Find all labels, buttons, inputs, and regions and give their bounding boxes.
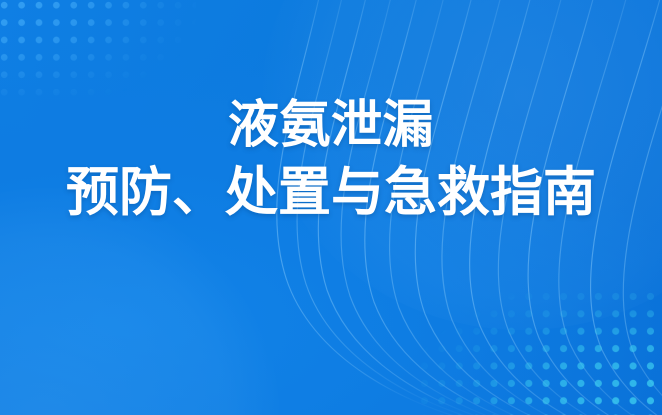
title-block: 液氨泄漏 预防、处置与急救指南	[0, 96, 662, 222]
slide-canvas: 液氨泄漏 预防、处置与急救指南	[0, 0, 662, 415]
title-line-secondary: 预防、处置与急救指南	[0, 163, 662, 222]
dot-pattern-bottom-right-icon	[416, 287, 662, 415]
title-line-primary: 液氨泄漏	[0, 96, 662, 153]
dot-pattern-top-left-icon	[0, 0, 196, 104]
